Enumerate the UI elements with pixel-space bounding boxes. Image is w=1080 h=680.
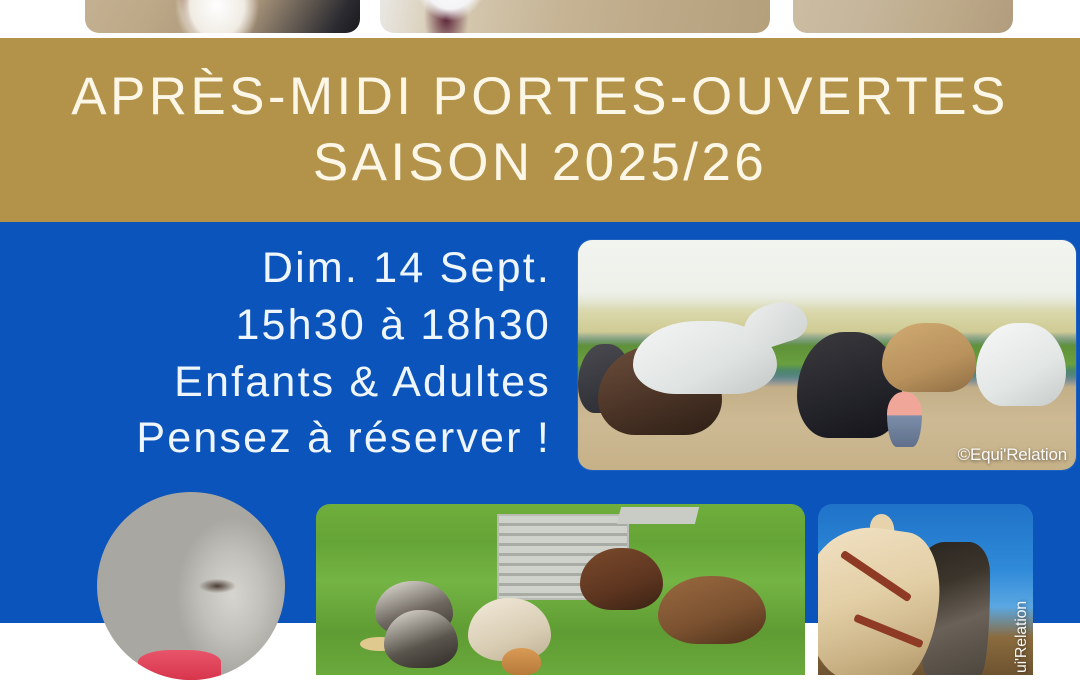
- portrait-photo-woman-with-horse: [97, 492, 285, 680]
- shirt-shape: [138, 650, 221, 680]
- top-photo-sand-arena: ©Equi'Relation: [793, 0, 1013, 33]
- fence-shape: [617, 507, 699, 524]
- top-photo-strip: ©Equi'Relation ©Equi'Relation ©Equi'Rela…: [0, 0, 1080, 38]
- horse-shape: [976, 323, 1066, 406]
- hero-photo-horses-pasture: ©Equi'Relation: [578, 240, 1076, 470]
- horse-with-person-photo: ui'Relation: [818, 504, 1033, 675]
- event-time-line: 15h30 à 18h30: [0, 297, 551, 354]
- farm-animals-photo: [316, 504, 805, 675]
- pig-shape: [384, 610, 457, 668]
- headline-line-2: SAISON 2025/26: [313, 135, 767, 191]
- watermark-label: ui'Relation: [1013, 601, 1031, 673]
- event-audience-line: Enfants & Adultes: [0, 354, 551, 411]
- watermark-label: ©Equi'Relation: [958, 445, 1067, 465]
- headline-line-1: APRÈS-MIDI PORTES-OUVERTES: [71, 69, 1009, 125]
- headline-band: APRÈS-MIDI PORTES-OUVERTES SAISON 2025/2…: [0, 38, 1080, 222]
- top-photo-person-with-horse: ©Equi'Relation: [380, 0, 770, 33]
- sheep-shape: [658, 576, 766, 644]
- event-booking-line: Pensez à réserver !: [0, 410, 551, 467]
- poster-root: ©Equi'Relation ©Equi'Relation ©Equi'Rela…: [0, 0, 1080, 675]
- chicken-shape: [502, 648, 541, 675]
- event-date-line: Dim. 14 Sept.: [0, 240, 551, 297]
- sheep-shape: [580, 548, 663, 610]
- child-shape: [887, 392, 922, 447]
- top-photo-horse-legs: ©Equi'Relation: [85, 0, 360, 33]
- horse-shape: [882, 323, 977, 392]
- event-details-block: Dim. 14 Sept. 15h30 à 18h30 Enfants & Ad…: [0, 240, 565, 467]
